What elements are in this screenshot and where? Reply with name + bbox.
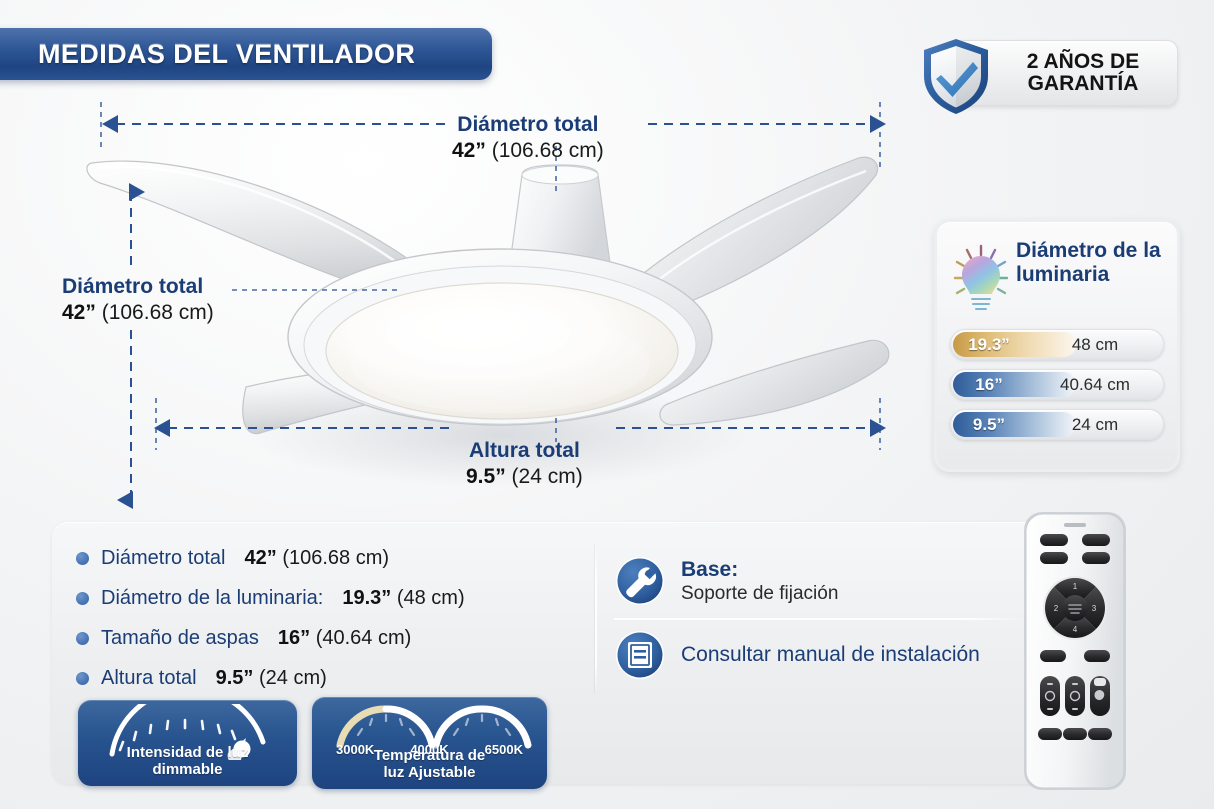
dimension-inches: 42”	[452, 139, 486, 162]
bullet-icon	[76, 632, 89, 645]
list-item: Altura total 9.5” (24 cm)	[76, 658, 576, 698]
pill-centimeters: 24 cm	[1027, 415, 1163, 435]
spec-metric: (48 cm)	[397, 587, 465, 609]
luminaire-title: Diámetro de la luminaria	[1016, 236, 1164, 288]
pad-number-2: 2	[1054, 604, 1059, 613]
dimension-value: 9.5” (24 cm)	[466, 464, 583, 490]
badge-line-2: dimmable	[78, 762, 297, 779]
column-divider	[595, 544, 597, 694]
spec-inches: 19.3”	[342, 587, 391, 609]
dimension-title: Diámetro total	[62, 274, 214, 300]
measure-pill: 9.5” 24 cm	[950, 409, 1164, 440]
pill-inches: 19.3”	[951, 335, 1027, 355]
spec-value: 16” (40.64 cm)	[278, 627, 411, 650]
dimension-label-total-diameter-top: Diámetro total 42” (106.68 cm)	[452, 112, 604, 163]
measure-pill: 16” 40.64 cm	[950, 369, 1164, 400]
list-item: Diámetro total 42” (106.68 cm)	[76, 538, 576, 578]
warranty-line-2: GARANTÍA	[1027, 73, 1139, 95]
spec-inches: 16”	[278, 627, 310, 649]
pill-centimeters: 48 cm	[1027, 335, 1163, 355]
spec-value: 19.3” (48 cm)	[342, 587, 464, 610]
dimension-metric: (106.68 cm)	[102, 301, 214, 324]
spec-label: Diámetro de la luminaria:	[101, 587, 323, 610]
feature-rows: Base: Soporte de fijación	[614, 544, 1034, 692]
badge-dimmable-light: Intensidad de luz dimmable	[78, 700, 297, 786]
luminaire-header: Diámetro de la luminaria	[950, 236, 1164, 320]
pad-number-1: 1	[1073, 582, 1078, 591]
lightbulb-icon	[950, 240, 1012, 320]
luminaire-diameter-panel: Diámetro de la luminaria 19.3” 48 cm 16”…	[934, 219, 1180, 472]
spec-metric: (24 cm)	[259, 667, 327, 689]
pill-inches: 16”	[951, 375, 1027, 395]
warranty-badge: 2 AÑOS DE GARANTÍA	[898, 34, 1178, 112]
dimension-title: Diámetro total	[452, 112, 604, 138]
dimension-value: 42” (106.68 cm)	[452, 138, 604, 164]
dimension-label-total-diameter-left: Diámetro total 42” (106.68 cm)	[62, 274, 214, 325]
spec-metric: (40.64 cm)	[316, 627, 412, 649]
badge-caption: Temperatura de luz Ajustable	[312, 748, 547, 782]
pill-centimeters: 40.64 cm	[1027, 375, 1163, 395]
warranty-text: 2 AÑOS DE GARANTÍA	[993, 51, 1139, 96]
remote-control-icon: 1 2 3 4	[1016, 508, 1134, 798]
feature-title: Base:	[681, 557, 838, 582]
spec-value: 9.5” (24 cm)	[216, 667, 327, 690]
spec-inches: 9.5”	[216, 667, 254, 689]
list-item: Tamaño de aspas 16” (40.64 cm)	[76, 618, 576, 658]
pill-inches: 9.5”	[951, 415, 1027, 435]
measure-pill: 19.3” 48 cm	[950, 329, 1164, 360]
badge-caption: Intensidad de luz dimmable	[78, 745, 297, 779]
spec-label: Diámetro total	[101, 547, 226, 570]
bullet-icon	[76, 592, 89, 605]
pad-number-4: 4	[1073, 625, 1078, 634]
badge-color-temperature: 3000K 4000K 6500K Temperatura de luz Aju…	[312, 697, 547, 789]
list-item: Diámetro de la luminaria: 19.3” (48 cm)	[76, 578, 576, 618]
badge-line-1: Temperatura de	[312, 748, 547, 765]
warranty-line-1: 2 AÑOS DE	[1027, 51, 1139, 73]
specification-list: Diámetro total 42” (106.68 cm) Diámetro …	[76, 538, 576, 698]
dimension-metric: (106.68 cm)	[492, 139, 604, 162]
dimension-inches: 9.5”	[466, 465, 506, 488]
page-title: MEDIDAS DEL VENTILADOR	[38, 39, 415, 70]
dimension-title: Altura total	[466, 438, 583, 464]
feature-subtitle: Soporte de fijación	[681, 582, 838, 606]
header-banner: MEDIDAS DEL VENTILADOR	[0, 28, 492, 80]
spec-value: 42” (106.68 cm)	[245, 547, 390, 570]
spec-inches: 42”	[245, 547, 277, 569]
bullet-icon	[76, 672, 89, 685]
shield-check-icon	[914, 34, 998, 118]
infographic-canvas: MEDIDAS DEL VENTILADOR 2 AÑOS DE GARANTÍ…	[0, 0, 1214, 809]
spec-metric: (106.68 cm)	[282, 547, 389, 569]
badge-line-1: Intensidad de luz	[78, 745, 297, 762]
spec-label: Tamaño de aspas	[101, 627, 259, 650]
dimension-label-total-height: Altura total 9.5” (24 cm)	[466, 438, 583, 489]
manual-document-icon	[614, 629, 666, 681]
spec-label: Altura total	[101, 667, 197, 690]
dimension-metric: (24 cm)	[512, 465, 583, 488]
dimension-value: 42” (106.68 cm)	[62, 300, 214, 326]
feature-row-manual[interactable]: Consultar manual de instalación	[614, 618, 1034, 692]
bullet-icon	[76, 552, 89, 565]
wrench-icon	[614, 555, 666, 607]
badge-line-2: luz Ajustable	[312, 765, 547, 782]
feature-row-base: Base: Soporte de fijación	[614, 544, 1034, 618]
feature-manual-label: Consultar manual de instalación	[681, 643, 980, 667]
dimension-inches: 42”	[62, 301, 96, 324]
feature-base-text: Base: Soporte de fijación	[681, 557, 838, 606]
pad-number-3: 3	[1092, 604, 1097, 613]
